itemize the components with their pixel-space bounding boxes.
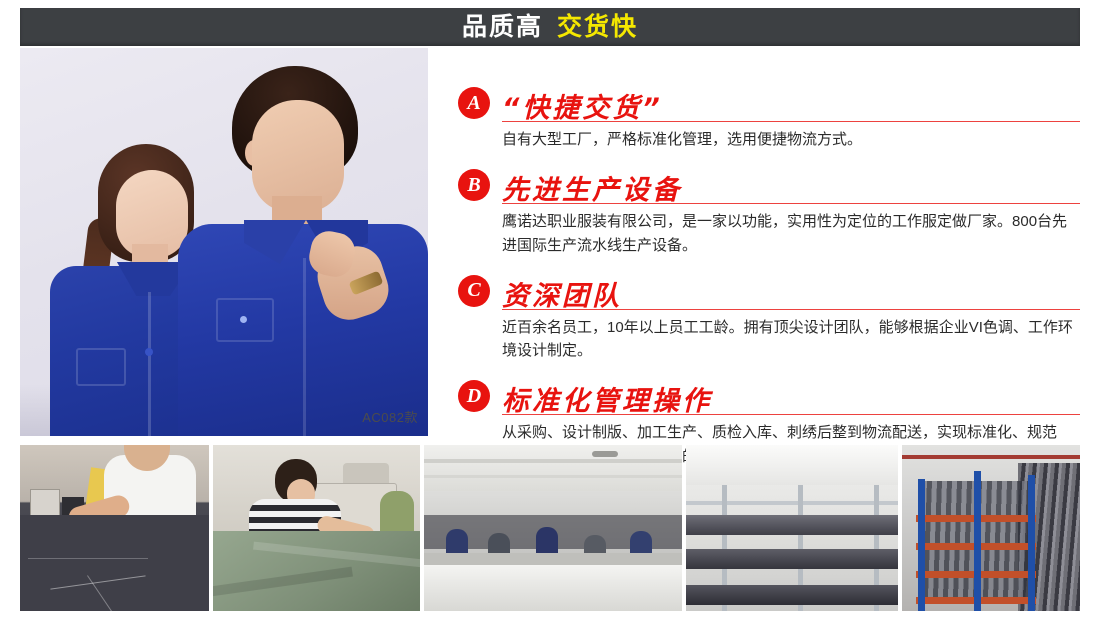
photo-conveyor-line [686, 445, 898, 611]
feature-d-rule [502, 414, 1080, 415]
ceiling-beam-1 [424, 459, 681, 463]
conveyor-belt-2 [686, 549, 898, 569]
female-jacket-pocket [76, 348, 126, 386]
conveyor-belt-3 [686, 585, 898, 605]
feature-c-rule [502, 309, 1080, 310]
rack-upright-3 [1028, 475, 1035, 611]
ceiling-fan [592, 451, 618, 457]
feature-item-b: B 先进生产设备 鹰诺达职业服装有限公司，是一家以功能，实用性为定位的工作服定做… [458, 164, 1080, 257]
feature-b-badge: B [458, 169, 490, 201]
feature-a-title: “快捷交货” [502, 95, 663, 122]
feature-d-head: D 标准化管理操作 [458, 375, 1080, 415]
feature-b-head: B 先进生产设备 [458, 164, 1080, 204]
feature-item-c: C 资深团队 近百余名员工，10年以上员工工龄。拥有顶尖设计团队，能够根据企业V… [458, 270, 1080, 363]
feature-a-body: 自有大型工厂，严格标准化管理，选用便捷物流方式。 [502, 128, 1080, 151]
feature-a-rule [502, 121, 1080, 122]
factory-ceiling [424, 445, 681, 491]
header-title-yellow: 交货快 [557, 13, 638, 41]
feature-a-head: A “快捷交货” [458, 82, 1080, 122]
feature-d-title: 标准化管理操作 [502, 388, 712, 415]
work-bench-edge [424, 553, 681, 565]
male-pocket-button [240, 316, 247, 323]
photo-production-floor [424, 445, 681, 611]
feature-c-head: C 资深团队 [458, 270, 1080, 310]
female-jacket-button [145, 348, 153, 356]
ceiling-beam-2 [424, 475, 681, 478]
feature-c-badge: C [458, 275, 490, 307]
promo-page: 品质高交货快 AC [0, 0, 1100, 619]
feature-c-body: 近百余名员工，10年以上员工工龄。拥有顶尖设计团队，能够根据企业VI色调、工作环… [502, 316, 1080, 363]
conveyor-ceiling [686, 445, 898, 485]
hero-row: AC082款 A “快捷交货” 自有大型工厂，严格标准化管理，选用便捷物流方式。… [20, 48, 1080, 436]
rack-upright-1 [918, 479, 925, 611]
photo-warehouse [902, 445, 1080, 611]
feature-b-body: 鹰诺达职业服装有限公司，是一家以功能，实用性为定位的工作服定做厂家。800台先进… [502, 210, 1080, 257]
factory-photo-strip [20, 445, 1080, 611]
cutting-fabric [20, 515, 209, 611]
feature-a-badge: A [458, 87, 490, 119]
feature-b-rule [502, 203, 1080, 204]
female-jacket-seam [148, 292, 151, 436]
feature-c-title: 资深团队 [502, 283, 622, 310]
header-title: 品质高交货快 [462, 15, 638, 40]
photo-cutting-room [20, 445, 209, 611]
conveyor-belt-1 [686, 515, 898, 535]
sprinkler-pipe [902, 455, 1080, 459]
rack-upright-2 [974, 471, 981, 611]
feature-list: A “快捷交货” 自有大型工厂，严格标准化管理，选用便捷物流方式。 B 先进生产… [440, 48, 1080, 436]
model-photo: AC082款 [20, 48, 428, 436]
photo-sewing-station [213, 445, 420, 611]
feature-item-a: A “快捷交货” 自有大型工厂，严格标准化管理，选用便捷物流方式。 [458, 82, 1080, 151]
feature-b-title: 先进生产设备 [502, 177, 682, 204]
chalk-line-3 [28, 558, 148, 559]
header-title-white: 品质高 [462, 13, 543, 41]
header-banner: 品质高交货快 [20, 8, 1080, 46]
work-bench [424, 565, 681, 611]
sku-label: AC082款 [362, 407, 418, 426]
male-jacket-seam [303, 258, 306, 436]
feature-d-badge: D [458, 380, 490, 412]
overhead-rail [686, 501, 898, 505]
